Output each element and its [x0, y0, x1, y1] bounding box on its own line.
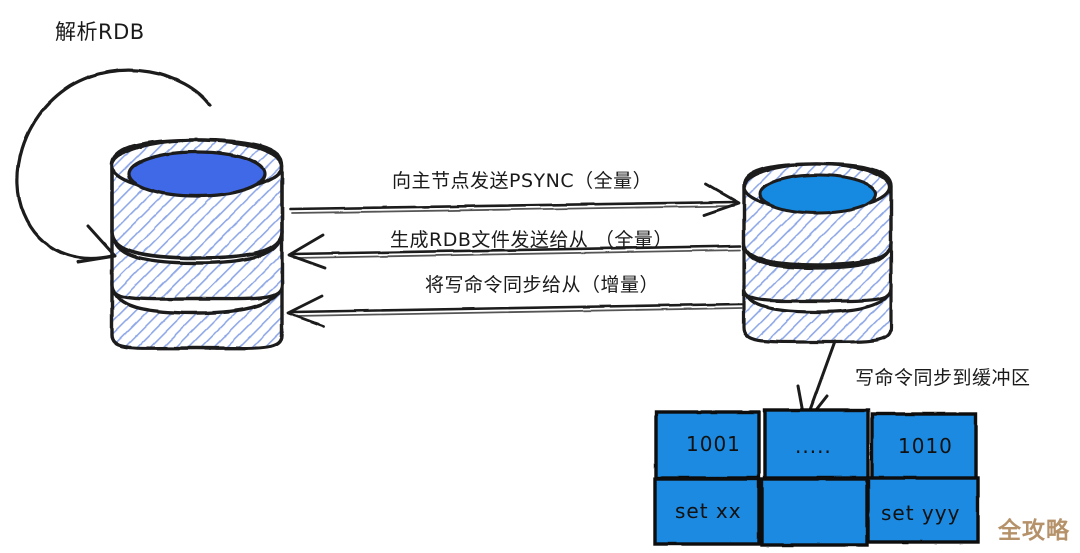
buffer-sync-label: 写命令同步到缓冲区 [855, 363, 1031, 390]
buffer-cell-text-r0c2: 1010 [898, 434, 953, 458]
watermark: 全攻略 [998, 511, 1070, 545]
message-label-rdb-full: 生成RDB文件发送给从 （全量） [390, 225, 673, 252]
arrow-incremental [288, 296, 742, 326]
buffer-cell-text-r0c1: ..... [795, 434, 832, 458]
buffer-cell [762, 479, 867, 545]
buffer-cell-text-r0c0: 1001 [686, 432, 741, 456]
buffer-cell-text-r1c0: set xx [675, 499, 742, 523]
buffer-cell-text-r1c2: set yyy [881, 501, 960, 525]
master-top-disc [760, 175, 876, 213]
message-label-psync: 向主节点发送PSYNC（全量） [392, 166, 652, 193]
diagram-canvas: 解析RDB 向主节点发送PSYNC（全量） 生成RDB文件发送给从 （全量） 将… [0, 0, 1080, 553]
message-label-incremental: 将写命令同步给从（增量） [425, 270, 659, 297]
parse-rdb-label: 解析RDB [55, 16, 145, 46]
replica-top-disc [129, 152, 265, 196]
replica-database-cylinder [112, 140, 282, 348]
master-database-cylinder [744, 164, 891, 342]
